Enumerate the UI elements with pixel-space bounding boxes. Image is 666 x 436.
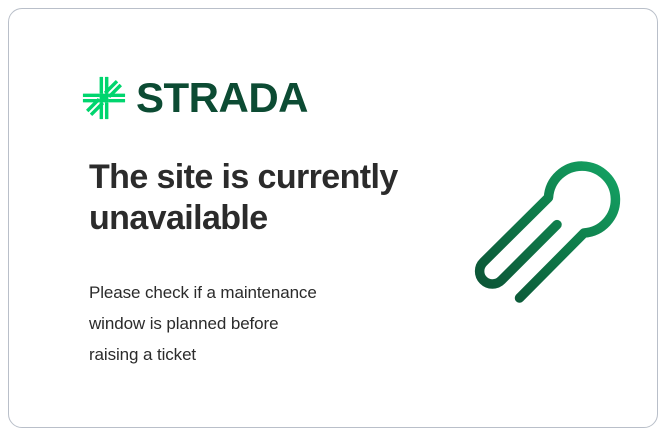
message-body-line: Please check if a maintenance <box>89 277 409 308</box>
wrench-icon <box>469 161 621 313</box>
strada-asterisk-icon <box>81 75 127 121</box>
page-title: The site is currently unavailable <box>89 157 449 239</box>
brand-lockup: STRADA <box>81 75 308 121</box>
message-body-line: window is planned before <box>89 308 409 339</box>
message-body-line: raising a ticket <box>89 339 409 370</box>
error-page: STRADA The site is currently unavailable… <box>0 0 666 436</box>
brand-wordmark: STRADA <box>136 77 308 119</box>
message-body: Please check if a maintenance window is … <box>89 277 409 370</box>
maintenance-card: STRADA The site is currently unavailable… <box>8 8 658 428</box>
